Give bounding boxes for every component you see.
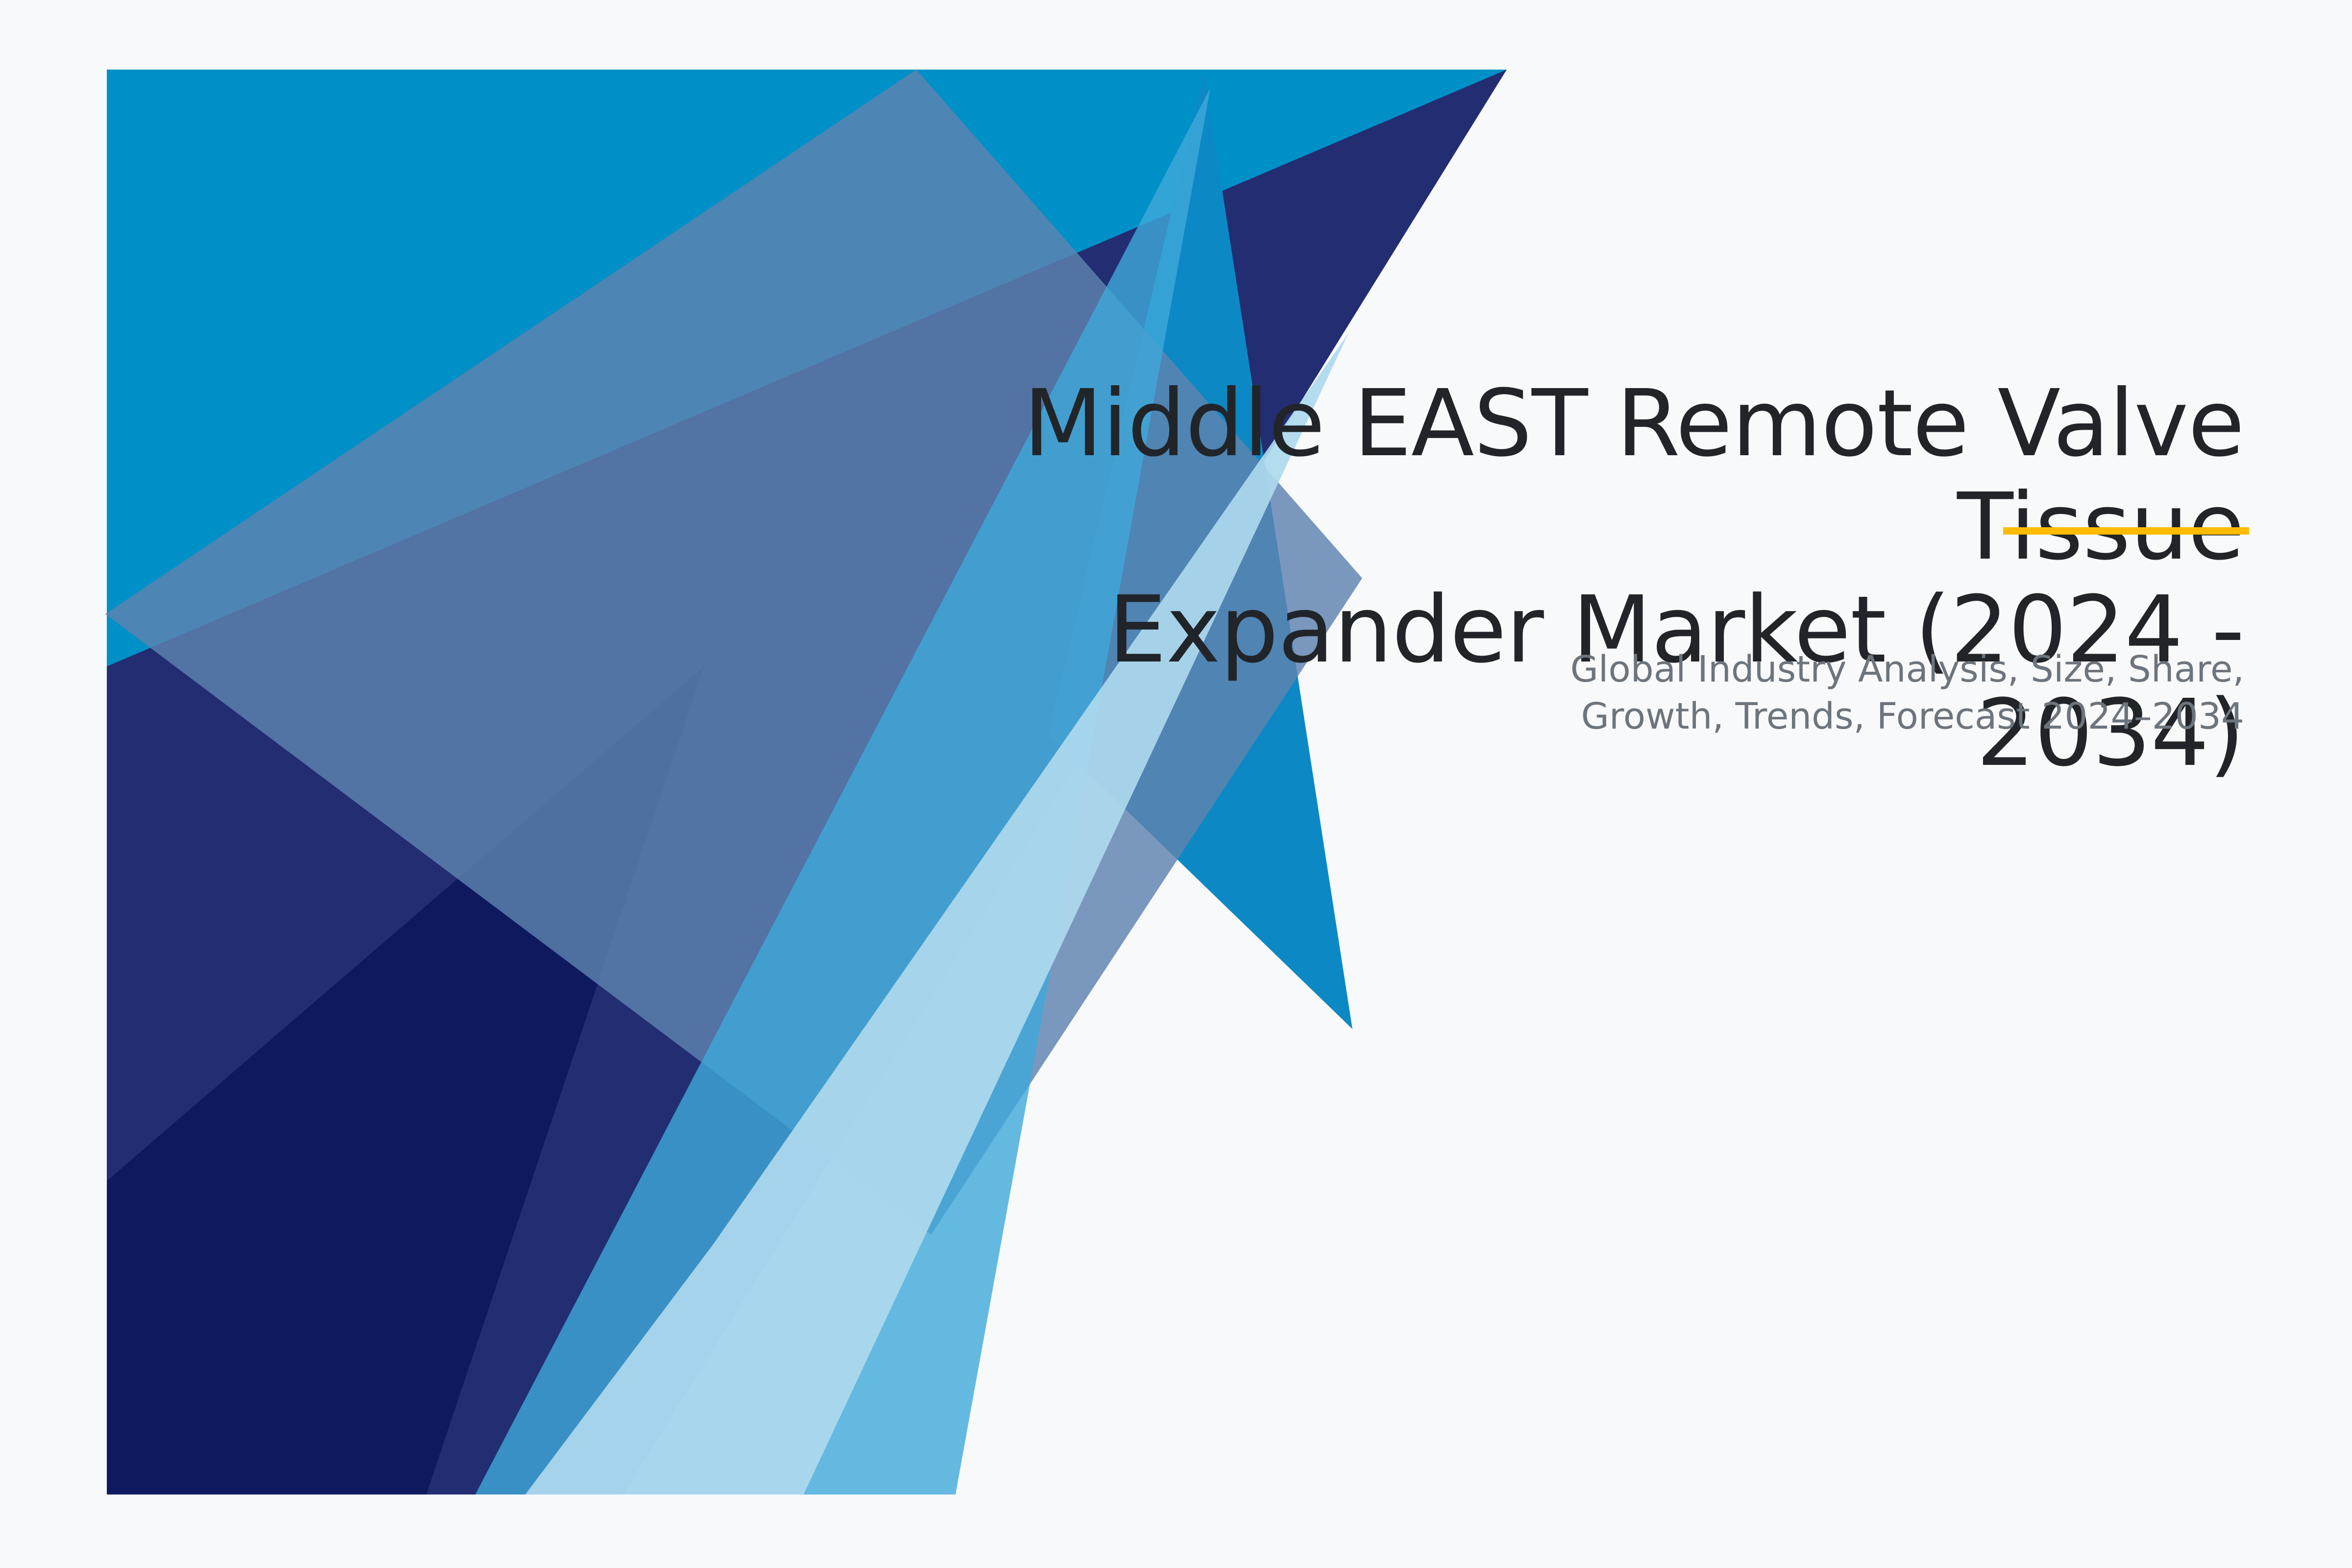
- title-highlight-underline: [2003, 527, 2249, 535]
- cover-subtitle: Global Industry Analysis, Size, Share, G…: [1421, 646, 2244, 740]
- report-cover: Middle EAST Remote Valve Tissue Expander…: [0, 0, 2352, 1568]
